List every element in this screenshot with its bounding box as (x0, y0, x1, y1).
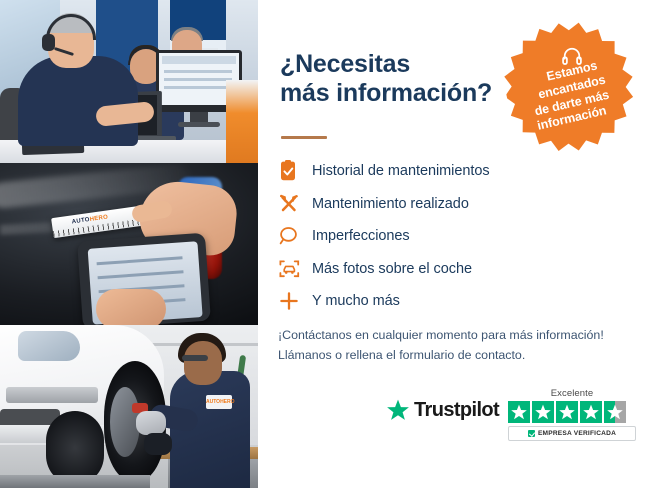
paragraph-line-2: Llámanos o rellena el formulario de cont… (278, 348, 525, 362)
star-half-icon (604, 401, 626, 423)
check-box-icon (528, 430, 535, 437)
screen-row (164, 78, 232, 81)
monitor-base (178, 122, 220, 127)
star-icon (556, 401, 578, 423)
patch-text: AUTOHERO (206, 395, 232, 409)
call-center-agents-photo (0, 0, 258, 163)
contact-paragraph: ¡Contáctanos en cualquier momento para m… (278, 326, 634, 365)
information-banner: AUTOHERO (0, 0, 650, 488)
title-divider (281, 136, 327, 139)
badge-text: Estamos encantados de darte más informac… (520, 64, 624, 127)
car-rear-wheel (46, 411, 104, 485)
rating-label: Excelente (508, 388, 636, 399)
headline-line-2: más información? (280, 79, 492, 107)
list-item-label: Mantenimiento realizado (312, 196, 469, 212)
list-item: Imperfecciones (278, 220, 618, 253)
list-item: Más fotos sobre el coche (278, 253, 618, 286)
car-scan-icon (278, 258, 312, 280)
ruler-brand-hero: HERO (89, 214, 108, 223)
star-icon (508, 401, 530, 423)
car-lift-ramp (0, 475, 150, 488)
screen-toolbar (162, 56, 236, 64)
status-badge: Estamos encantados de darte más informac… (506, 20, 638, 152)
trustpilot-rating: Trustpilot Excelente EMPRESA VERIFICADA (386, 388, 636, 448)
car-inspection-ruler-photo: AUTOHERO (0, 163, 258, 325)
photo-collage: AUTOHERO (0, 0, 258, 488)
status-badge: EMPRESA VERIFICADA (508, 426, 636, 441)
star-icon (580, 401, 602, 423)
list-item-label: Más fotos sobre el coche (312, 261, 472, 277)
tablet-screen-row (97, 256, 183, 265)
list-item-label: Imperfecciones (312, 228, 410, 244)
star-icon (532, 401, 554, 423)
screen-row (164, 70, 232, 73)
list-item: Y mucho más (278, 285, 618, 318)
inspector-hand-lower (96, 289, 166, 325)
trustpilot-logo: Trustpilot (386, 398, 499, 422)
mechanic-head (184, 341, 222, 385)
list-item-label: Y mucho más (312, 293, 400, 309)
uniform-logo-patch: AUTOHERO (206, 395, 232, 409)
ruler-brand-auto: AUTO (71, 217, 90, 225)
orange-shelf (226, 80, 258, 163)
agent-body-front (18, 56, 138, 146)
mechanic-tyre-check-photo: AUTOHERO (0, 325, 258, 488)
page-title: ¿Necesitas más información? (280, 50, 530, 108)
tablet-screen-row (98, 270, 184, 279)
list-item: Historial de mantenimientos (278, 155, 618, 188)
trustpilot-wordmark: Trustpilot (414, 399, 499, 422)
list-item-label: Historial de mantenimientos (312, 163, 490, 179)
document-check-icon (278, 160, 312, 182)
car-grille-upper (6, 387, 98, 403)
feature-list: Historial de mantenimientos Mantenimient… (278, 155, 618, 318)
mechanic-glove-upper (136, 411, 166, 435)
mechanic-glove-lower (144, 433, 172, 455)
trustpilot-score: Excelente EMPRESA VERIFICADA (508, 388, 636, 441)
car-headlight (18, 331, 80, 361)
content-panel: ¿Necesitas más información? Estamos enca… (258, 0, 650, 488)
headline-line-1: ¿Necesitas (280, 50, 410, 78)
star-rating (508, 401, 636, 423)
list-item: Mantenimiento realizado (278, 188, 618, 221)
safety-glasses (182, 355, 208, 361)
screen-row (164, 86, 232, 89)
star-icon (386, 398, 410, 422)
plus-icon (278, 290, 312, 312)
paragraph-line-1: ¡Contáctanos en cualquier momento para m… (278, 328, 604, 342)
magnifier-icon (278, 225, 312, 247)
verified-label: EMPRESA VERIFICADA (538, 430, 616, 437)
headset-earcup (42, 34, 55, 51)
tools-cross-icon (278, 193, 312, 215)
